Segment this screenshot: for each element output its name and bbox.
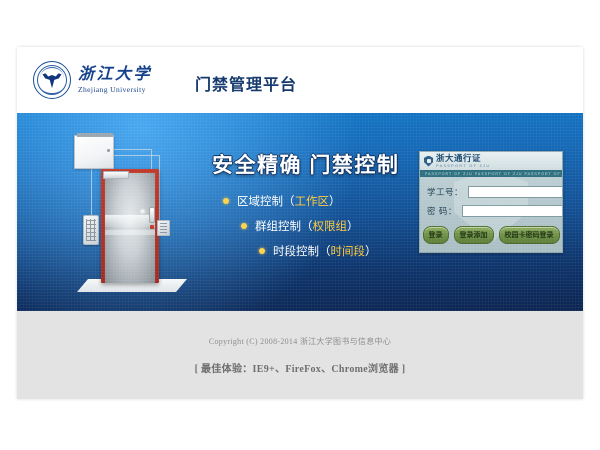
door-led-icon xyxy=(150,225,154,229)
campus-card-login-button[interactable]: 校园卡密码登录 xyxy=(499,226,560,244)
password-label: 密 码： xyxy=(427,205,457,217)
hero-banner: 安全精确 门禁控制 区域控制（ 工作区 ） 群组控制（ 权限组 ） 时段控制（ … xyxy=(17,113,583,311)
site-footer: Copyright (C) 2008-2014 浙江大学图书与信息中心 [ 最佳… xyxy=(17,311,583,399)
bullet-dot-icon xyxy=(223,198,229,204)
login-button-row: 登录 登录添加 校园卡密码登录 xyxy=(427,224,555,244)
feature-tail: ） xyxy=(329,193,341,209)
door-handle-icon xyxy=(149,207,155,223)
feature-tail: ） xyxy=(365,243,377,259)
feature-emphasis: 时间段 xyxy=(331,243,366,259)
feature-label: 群组控制（ xyxy=(255,218,313,234)
feature-label: 时段控制（ xyxy=(273,243,331,259)
shield-icon xyxy=(424,156,433,167)
list-item: 区域控制（ 工作区 ） xyxy=(223,193,377,209)
username-field-row: 学工号： xyxy=(427,186,555,198)
wire-icon xyxy=(111,149,151,150)
banner-feature-list: 区域控制（ 工作区 ） 群组控制（ 权限组 ） 时段控制（ 时间段 ） xyxy=(223,193,377,259)
username-input[interactable] xyxy=(468,186,563,198)
login-button[interactable]: 登录 xyxy=(423,226,449,244)
password-field-row: 密 码： xyxy=(427,205,555,217)
login-panel: 浙大通行证 PASSPORT OF ZJU PASSPORT OF ZJU PA… xyxy=(419,151,563,253)
login-form: 学工号： 密 码： 登录 登录添加 校园卡密码登录 xyxy=(420,177,562,244)
passport-strip-band: PASSPORT OF ZJU PASSPORT OF ZJU PASSPORT… xyxy=(420,170,562,177)
access-control-door-illustration xyxy=(39,121,199,303)
brand-logo[interactable]: 浙江大学 Zhejiang University xyxy=(33,61,152,99)
list-item: 群组控制（ 权限组 ） xyxy=(241,218,377,234)
bullet-dot-icon xyxy=(259,248,265,254)
password-input[interactable] xyxy=(462,205,563,217)
feature-label: 区域控制（ xyxy=(237,193,295,209)
wire-icon xyxy=(91,166,92,216)
login-panel-subtitle: PASSPORT OF ZJU xyxy=(436,164,490,168)
door-knob-icon xyxy=(140,209,146,215)
login-add-button[interactable]: 登录添加 xyxy=(454,226,494,244)
page-card: 浙江大学 Zhejiang University 门禁管理平台 安全精确 xyxy=(17,47,583,399)
wire-icon xyxy=(159,155,160,220)
wire-icon xyxy=(111,155,159,156)
feature-tail: ） xyxy=(347,218,359,234)
card-reader-icon xyxy=(157,220,170,236)
site-header: 浙江大学 Zhejiang University 门禁管理平台 xyxy=(17,47,583,113)
door-leaf xyxy=(105,173,155,283)
list-item: 时段控制（ 时间段 ） xyxy=(259,243,377,259)
brand-name-en: Zhejiang University xyxy=(78,86,152,94)
banner-headline: 安全精确 门禁控制 xyxy=(212,149,399,179)
login-panel-header: 浙大通行证 PASSPORT OF ZJU xyxy=(420,152,562,170)
browser-support-note: [ 最佳体验：IE9+、FireFox、Chrome浏览器 ] xyxy=(195,360,406,375)
keypad-reader-icon xyxy=(83,215,99,245)
feature-emphasis: 权限组 xyxy=(313,218,348,234)
feature-emphasis: 工作区 xyxy=(295,193,330,209)
page-title: 门禁管理平台 xyxy=(195,71,297,95)
copyright-text: Copyright (C) 2008-2014 浙江大学图书与信息中心 xyxy=(209,336,391,347)
door-closer-icon xyxy=(103,171,129,179)
strip-text: PASSPORT OF ZJU PASSPORT OF ZJU PASSPORT… xyxy=(420,172,562,176)
zju-seal-icon xyxy=(33,61,71,99)
brand-name-cn: 浙江大学 xyxy=(78,67,152,83)
bullet-dot-icon xyxy=(241,223,247,229)
login-panel-title: 浙大通行证 xyxy=(436,154,490,163)
username-label: 学工号： xyxy=(427,186,463,198)
controller-box-icon xyxy=(74,135,114,169)
